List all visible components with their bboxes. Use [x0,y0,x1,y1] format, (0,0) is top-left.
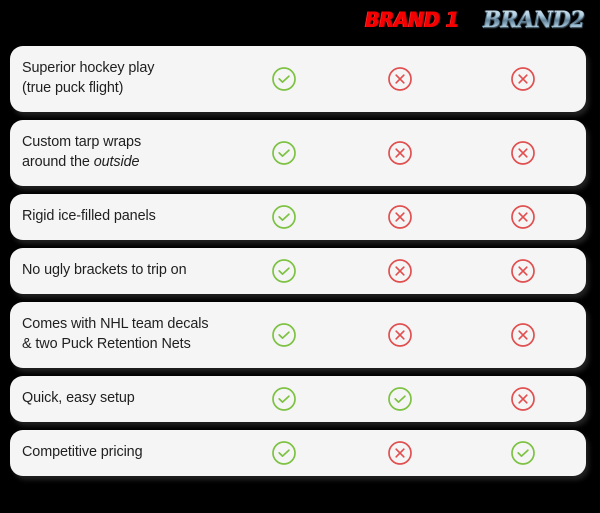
cell-product [228,140,340,166]
table-row: Rigid ice-filled panels [10,194,586,240]
x-circle-icon [387,140,413,166]
cell-brand1 [340,66,460,92]
cell-product [228,322,340,348]
check-circle-icon [510,440,536,466]
x-circle-icon [387,66,413,92]
x-circle-icon [510,386,536,412]
feature-line-2: & two Puck Retention Nets [22,335,220,355]
feature-label: Rigid ice-filled panels [10,197,228,237]
cell-brand2 [460,258,586,284]
x-circle-icon [510,204,536,230]
feature-line-1: Rigid ice-filled panels [22,207,220,227]
brand2-logo: BRAND2 [482,6,586,34]
cell-brand2 [460,322,586,348]
check-circle-icon [271,66,297,92]
cell-brand1 [340,386,460,412]
cell-product [228,386,340,412]
rating-cells [228,140,586,166]
check-circle-icon [271,440,297,466]
feature-line-2: (true puck flight) [22,79,220,99]
feature-emphasis: outside [94,154,140,170]
cell-brand1 [340,322,460,348]
rating-cells [228,66,586,92]
feature-line-1: Quick, easy setup [22,389,220,409]
comparison-table: Superior hockey play(true puck flight)Cu… [0,46,600,476]
rating-cells [228,440,586,466]
cell-product [228,258,340,284]
rating-cells [228,204,586,230]
check-circle-icon [271,322,297,348]
feature-line-1: No ugly brackets to trip on [22,261,220,281]
feature-label: No ugly brackets to trip on [10,251,228,291]
table-row: No ugly brackets to trip on [10,248,586,294]
x-circle-icon [387,440,413,466]
brand1-logo: BRAND 1 [360,6,463,34]
table-row: Competitive pricing [10,430,586,476]
feature-label: Comes with NHL team decals& two Puck Ret… [10,305,228,365]
x-circle-icon [387,258,413,284]
x-circle-icon [510,140,536,166]
rating-cells [228,322,586,348]
cell-product [228,440,340,466]
feature-line-1: Competitive pricing [22,443,220,463]
x-circle-icon [510,66,536,92]
x-circle-icon [387,204,413,230]
table-row: Custom tarp wrapsaround the outside [10,120,586,186]
x-circle-icon [387,322,413,348]
cell-product [228,204,340,230]
feature-line-1: Comes with NHL team decals [22,315,220,335]
feature-label: Superior hockey play(true puck flight) [10,49,228,109]
feature-line-1: Custom tarp wraps [22,133,220,153]
cell-brand2 [460,440,586,466]
check-circle-icon [271,140,297,166]
feature-line-1: Superior hockey play [22,59,220,79]
x-circle-icon [510,258,536,284]
cell-brand2 [460,140,586,166]
cell-brand1 [340,140,460,166]
cell-brand2 [460,386,586,412]
feature-label: Custom tarp wrapsaround the outside [10,123,228,183]
table-row: Superior hockey play(true puck flight) [10,46,586,112]
brand-header: BRAND 1 BRAND2 [0,0,600,46]
check-circle-icon [271,258,297,284]
check-circle-icon [271,386,297,412]
cell-product [228,66,340,92]
rating-cells [228,386,586,412]
cell-brand2 [460,204,586,230]
cell-brand2 [460,66,586,92]
table-row: Quick, easy setup [10,376,586,422]
rating-cells [228,258,586,284]
feature-label: Competitive pricing [10,433,228,473]
cell-brand1 [340,204,460,230]
cell-brand1 [340,258,460,284]
comparison-table-page: BRAND 1 BRAND2 Superior hockey play(true… [0,0,600,513]
check-circle-icon [271,204,297,230]
feature-line-2: around the outside [22,153,220,173]
feature-label: Quick, easy setup [10,379,228,419]
table-row: Comes with NHL team decals& two Puck Ret… [10,302,586,368]
check-circle-icon [387,386,413,412]
x-circle-icon [510,322,536,348]
cell-brand1 [340,440,460,466]
